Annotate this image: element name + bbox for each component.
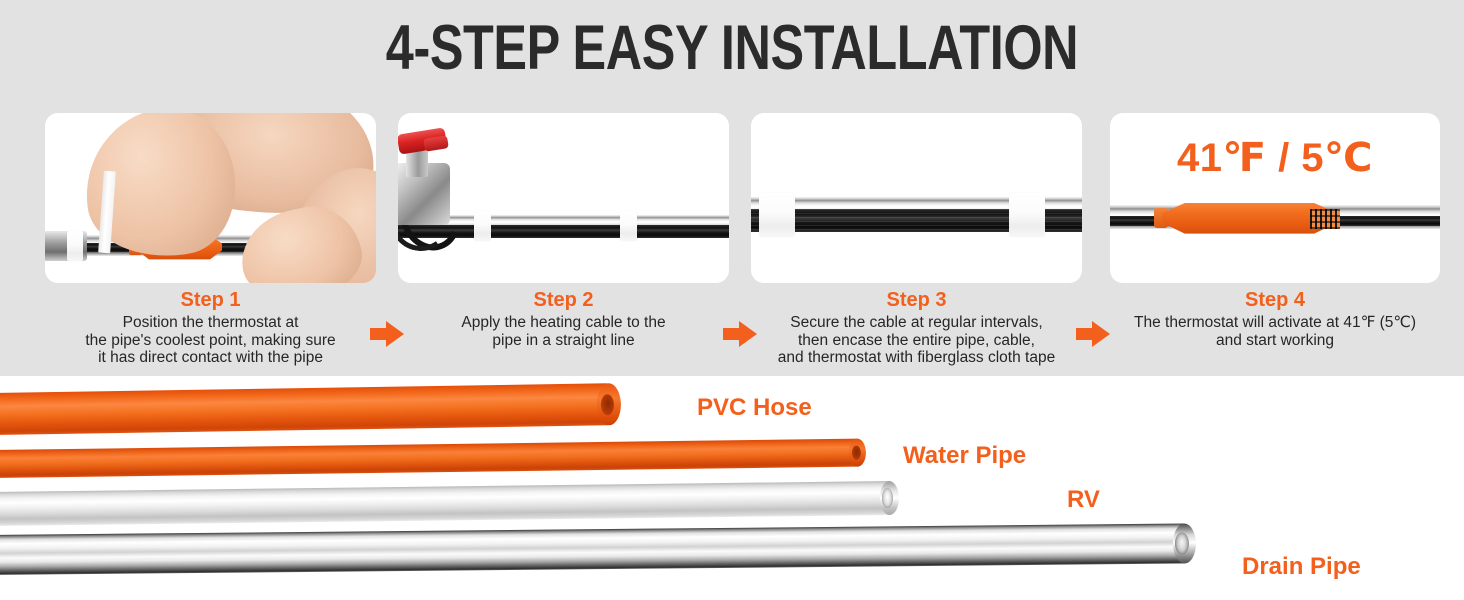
steps-section: 4-STEP EASY INSTALLATION Step 1 [0,0,1464,376]
pipe-bore [1175,532,1189,554]
valve-stem-illustration [406,151,428,177]
step-3-description: Secure the cable at regular intervals, t… [751,314,1082,367]
step-card-4: 41℉ / 5℃ Step 4 The thermostat will acti… [1110,113,1440,376]
step-3-photo [751,113,1082,283]
step-2-description: Apply the heating cable to the pipe in a… [398,314,729,349]
pipe-label-water-pipe: Water Pipe [903,442,1026,470]
tape-band-illustration [620,211,637,241]
step-card-2: Step 2 Apply the heating cable to the pi… [398,113,729,376]
tape-band-illustration [67,231,83,261]
pipe-label-pvc-hose: PVC Hose [697,394,812,422]
pipe-body [0,524,1185,575]
compatible-pipes-section: PVC Hose Water Pipe RV Drain Pipe [0,376,1464,600]
step-card-1: Step 1 Position the thermostat at the pi… [45,113,376,376]
pipe-bore [852,446,861,460]
step-4-photo: 41℉ / 5℃ [1110,113,1440,283]
pipe-body [0,383,610,435]
arrow-head [739,321,757,347]
pipe-bore [882,488,893,508]
arrow-head [386,321,404,347]
tape-wrap-illustration [1009,193,1045,237]
step-card-3: Step 3 Secure the cable at regular inter… [751,113,1082,376]
page-title: 4-STEP EASY INSTALLATION [146,12,1317,84]
step-4-description: The thermostat will activate at 41℉ (5℃)… [1110,314,1440,349]
pipe-label-rv: RV [1067,486,1100,514]
pipe-rv [0,481,890,526]
arrow-right-icon [370,321,404,347]
pipe-drain-pipe [0,524,1185,575]
pipe-body [0,481,890,526]
tape-band-illustration [474,211,491,241]
step-1-photo [45,113,376,283]
arrow-right-icon [723,321,757,347]
pipe-pvc-hose [0,383,610,435]
pipe-water-pipe [0,439,858,478]
step-2-photo [398,113,729,283]
step-4-label: Step 4 [1110,289,1440,312]
pipe-body [0,439,858,478]
step-1-label: Step 1 [45,289,376,312]
temperature-badge: 41℉ / 5℃ [1110,135,1440,181]
installation-infographic: 4-STEP EASY INSTALLATION Step 1 [0,0,1464,600]
pipe-bore [601,394,614,415]
arrow-right-icon [1076,321,1110,347]
arrow-head [1092,321,1110,347]
tape-wrap-illustration [759,193,795,237]
valve-handle-grip-illustration [423,135,449,152]
thermostat-strain-relief-shading [1310,209,1340,229]
step-1-description: Position the thermostat at the pipe's co… [45,314,376,367]
pipe-label-drain-pipe: Drain Pipe [1242,553,1361,581]
step-2-label: Step 2 [398,289,729,312]
step-3-label: Step 3 [751,289,1082,312]
